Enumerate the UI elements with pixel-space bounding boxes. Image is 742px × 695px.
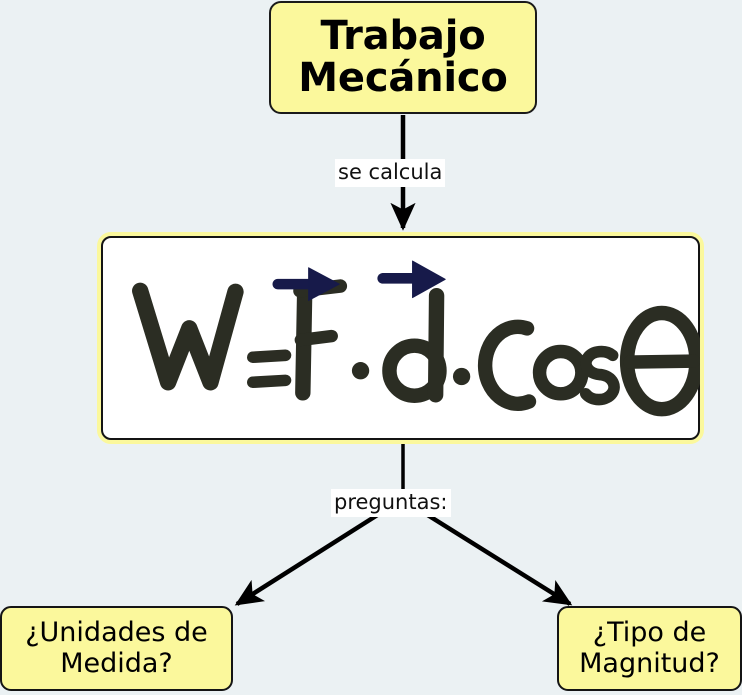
formula-handwriting [101, 236, 700, 440]
formula-strokes-svg [101, 236, 700, 440]
node-tipo-de-magnitud[interactable]: ¿Tipo de Magnitud? [557, 606, 742, 691]
node-leaf-left-label: ¿Unidades de Medida? [25, 618, 208, 680]
diagram-canvas: Trabajo Mecánico [0, 0, 742, 695]
edge-label-preguntas: preguntas: [331, 489, 451, 517]
node-title-label: Trabajo Mecánico [298, 16, 507, 99]
edge-formula-to-leaf-right [426, 514, 570, 604]
node-unidades-de-medida[interactable]: ¿Unidades de Medida? [0, 606, 233, 691]
edge-label-se-calcula: se calcula [335, 159, 445, 187]
node-leaf-right-label: ¿Tipo de Magnitud? [579, 618, 720, 680]
edge-formula-to-leaf-left [237, 514, 379, 604]
node-trabajo-mecanico[interactable]: Trabajo Mecánico [269, 1, 537, 114]
node-formula[interactable] [97, 232, 704, 444]
